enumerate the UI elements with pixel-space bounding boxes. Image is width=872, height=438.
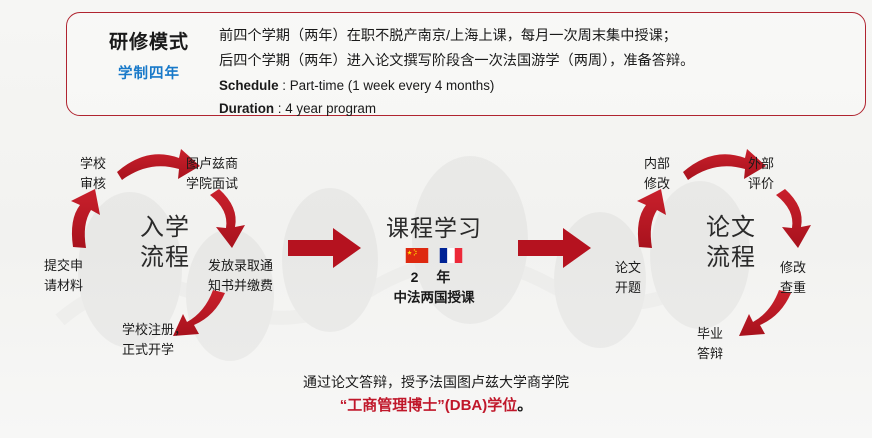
degree-statement-period: 。 xyxy=(517,397,532,414)
course-caption: 中法两国授课 xyxy=(366,288,502,308)
node-thesis-proposal-line-2: 开题 xyxy=(602,278,654,298)
thesis-title-line-1: 论文 xyxy=(686,212,776,242)
slide-root: 研修模式 学制四年 前四个学期（两年）在职不脱产南京/上海上课，每月一次周末集中… xyxy=(0,0,872,438)
node-revise-plagiarism-line-2: 查重 xyxy=(780,278,832,298)
node-school-review[interactable]: 学校 审核 xyxy=(68,154,118,194)
program-duration-subtitle: 学制四年 xyxy=(81,62,217,86)
node-toulouse-interview-line-2: 学院面试 xyxy=(186,174,260,194)
thesis-arrow-right xyxy=(776,189,811,248)
flow-arrow-to-thesis xyxy=(518,228,591,268)
node-submit-materials-line-2: 请材料 xyxy=(44,276,106,296)
node-offer-payment-line-2: 知书并缴费 xyxy=(208,276,290,296)
program-mode-details: 前四个学期（两年）在职不脱产南京/上海上课，每月一次周末集中授课； 后四个学期（… xyxy=(219,24,855,120)
node-internal-revision[interactable]: 内部 修改 xyxy=(632,154,682,194)
thesis-cycle-title: 论文 流程 xyxy=(686,212,776,272)
degree-statement-line-2: “工商管理博士”(DBA)学位。 xyxy=(0,394,872,418)
node-revise-plagiarism-line-1: 修改 xyxy=(780,258,832,278)
node-school-review-line-1: 学校 xyxy=(68,154,118,174)
node-offer-payment-line-1: 发放录取通 xyxy=(208,256,290,276)
thesis-title-line-2: 流程 xyxy=(686,242,776,272)
node-internal-revision-line-1: 内部 xyxy=(632,154,682,174)
degree-statement-line-1: 通过论文答辩，授予法国图卢兹大学商学院 xyxy=(0,370,872,394)
flow-arrow-to-course xyxy=(288,228,361,268)
flags-group xyxy=(366,248,502,263)
degree-name: “工商管理博士”(DBA)学位 xyxy=(340,397,518,414)
node-register-start-line-2: 正式开学 xyxy=(122,340,202,360)
node-thesis-proposal-line-1: 论文 xyxy=(602,258,654,278)
duration-label: Duration xyxy=(219,101,274,116)
schedule-value: Part-time (1 week every 4 months) xyxy=(290,78,495,93)
thesis-arrow-left xyxy=(637,189,666,248)
program-detail-cn-line-2: 后四个学期（两年）进入论文撰写阶段含一次法国游学（两周），准备答辩。 xyxy=(219,49,855,74)
node-external-review-line-2: 评价 xyxy=(748,174,800,194)
node-graduation-defense-line-2: 答辩 xyxy=(684,344,736,364)
node-submit-materials[interactable]: 提交申 请材料 xyxy=(44,256,106,296)
node-toulouse-interview-line-1: 图卢兹商 xyxy=(186,154,260,174)
course-study-block: 课程学习 2 年 中法两国授课 xyxy=(366,214,502,308)
node-submit-materials-line-1: 提交申 xyxy=(44,256,106,276)
node-school-review-line-2: 审核 xyxy=(68,174,118,194)
admission-arrow-right xyxy=(210,189,245,248)
admission-arrow-left xyxy=(71,189,100,248)
schedule-label: Schedule xyxy=(219,78,279,93)
course-duration-years: 2 年 xyxy=(366,266,502,288)
program-mode-title: 研修模式 xyxy=(81,30,217,56)
admission-title-line-1: 入学 xyxy=(120,212,210,242)
course-study-title: 课程学习 xyxy=(366,214,502,244)
node-graduation-defense-line-1: 毕业 xyxy=(684,324,736,344)
program-mode-label-group: 研修模式 学制四年 xyxy=(81,30,217,86)
node-revise-plagiarism[interactable]: 修改 查重 xyxy=(780,258,832,298)
program-detail-cn-line-1: 前四个学期（两年）在职不脱产南京/上海上课，每月一次周末集中授课； xyxy=(219,24,855,49)
node-external-review[interactable]: 外部 评价 xyxy=(748,154,800,194)
degree-statement: 通过论文答辩，授予法国图卢兹大学商学院 “工商管理博士”(DBA)学位。 xyxy=(0,370,872,418)
node-graduation-defense[interactable]: 毕业 答辩 xyxy=(684,324,736,364)
node-offer-payment[interactable]: 发放录取通 知书并缴费 xyxy=(208,256,290,296)
node-register-start[interactable]: 学校注册， 正式开学 xyxy=(122,320,202,360)
admission-title-line-2: 流程 xyxy=(120,242,210,272)
admission-cycle-title: 入学 流程 xyxy=(120,212,210,272)
schedule-separator: : xyxy=(279,78,290,93)
france-flag xyxy=(439,248,463,263)
node-thesis-proposal[interactable]: 论文 开题 xyxy=(602,258,654,298)
china-flag xyxy=(405,248,429,263)
duration-separator: : xyxy=(274,101,285,116)
duration-line: Duration : 4 year program xyxy=(219,98,855,120)
program-mode-box: 研修模式 学制四年 前四个学期（两年）在职不脱产南京/上海上课，每月一次周末集中… xyxy=(66,12,866,116)
duration-value: 4 year program xyxy=(285,101,376,116)
schedule-line: Schedule : Part-time (1 week every 4 mon… xyxy=(219,75,855,97)
node-toulouse-interview[interactable]: 图卢兹商 学院面试 xyxy=(186,154,260,194)
node-internal-revision-line-2: 修改 xyxy=(632,174,682,194)
node-register-start-line-1: 学校注册， xyxy=(122,320,202,340)
node-external-review-line-1: 外部 xyxy=(748,154,800,174)
